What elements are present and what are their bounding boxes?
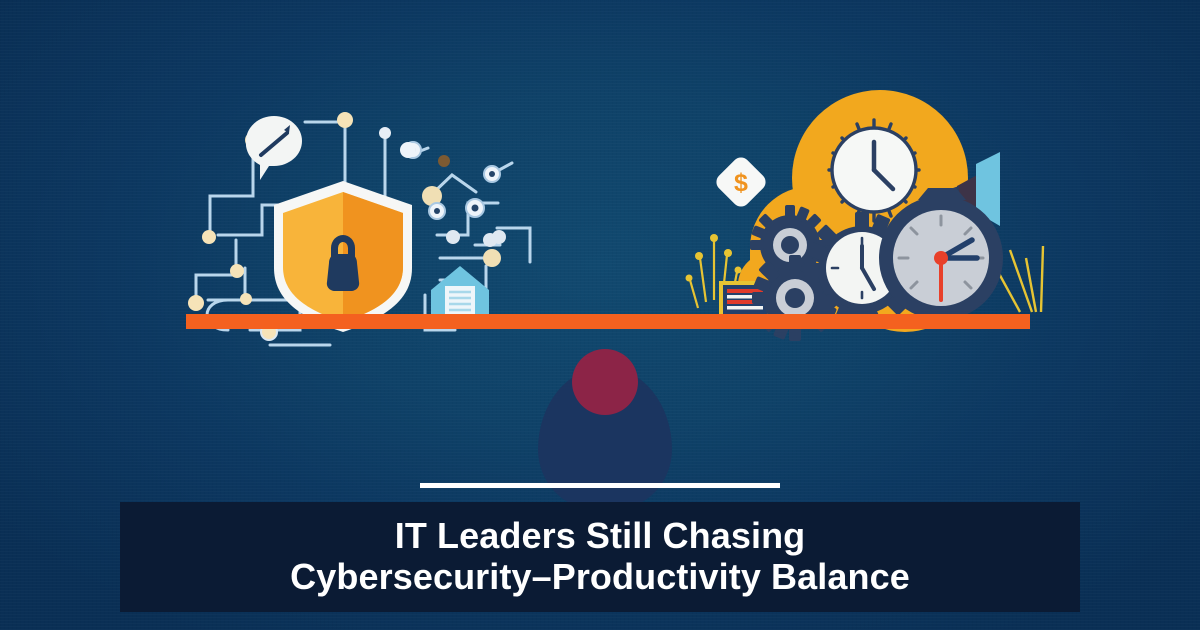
page-title-line-1: IT Leaders Still Chasing [395,516,806,557]
svg-text:$: $ [734,169,748,197]
poster-canvas: $ [0,0,1200,630]
balance-beam [186,314,1030,329]
title-divider-rule [420,483,780,488]
page-title-line-2: Cybersecurity–Productivity Balance [290,557,910,598]
spark-lines-icon [996,246,1043,312]
dollar-diamond-icon: $ [713,154,770,211]
title-banner: IT Leaders Still Chasing Cybersecurity–P… [120,502,1080,612]
fulcrum-pivot-ball [572,349,638,415]
